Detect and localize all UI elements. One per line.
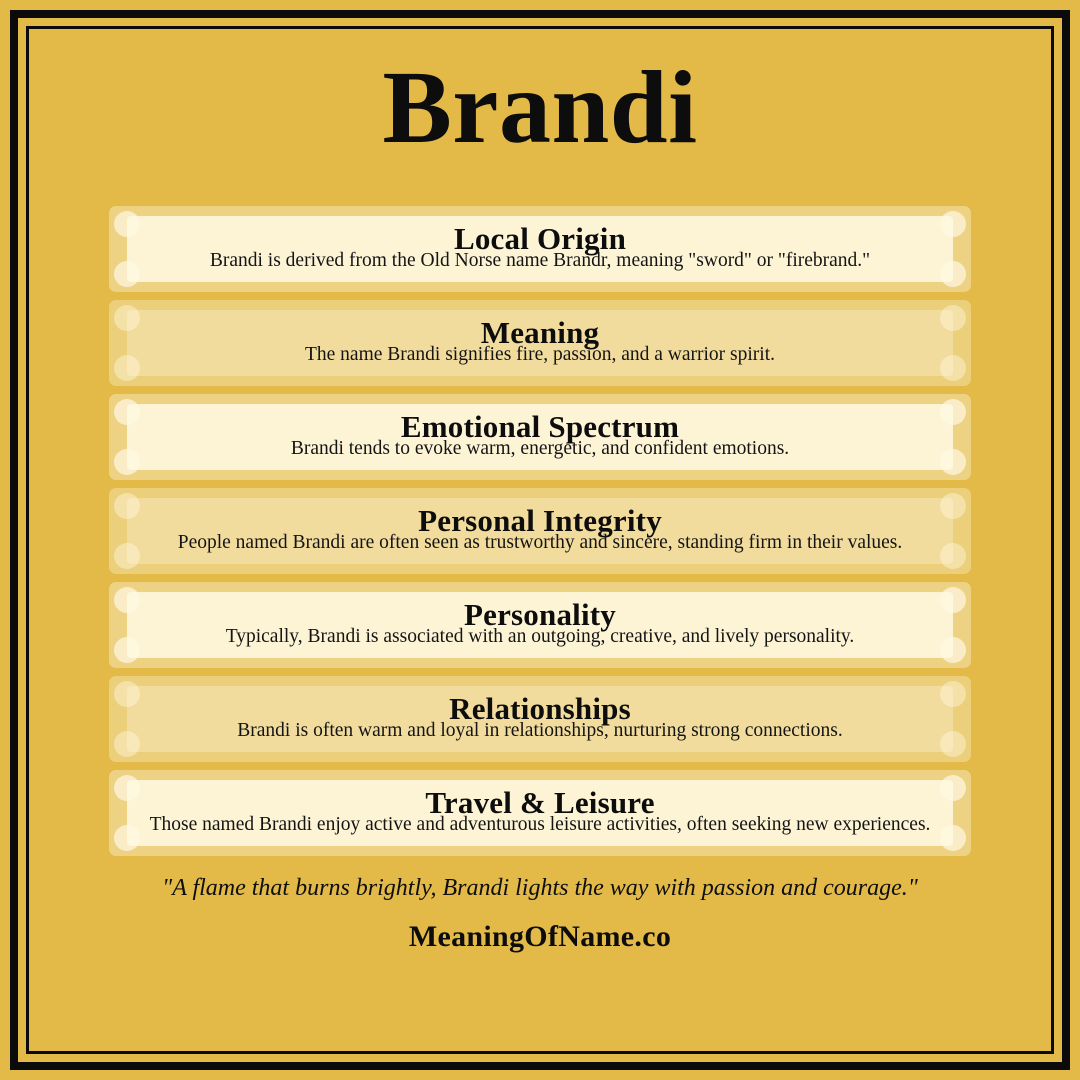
section-card: RelationshipsBrandi is often warm and lo… <box>109 676 971 762</box>
section-card: Travel & LeisureThose named Brandi enjoy… <box>109 770 971 856</box>
section-card: Personal IntegrityPeople named Brandi ar… <box>109 488 971 574</box>
section-card-body-panel: RelationshipsBrandi is often warm and lo… <box>127 686 953 752</box>
section-card-body-panel: Personal IntegrityPeople named Brandi ar… <box>127 498 953 564</box>
site-branding: MeaningOfName.co <box>29 920 1051 954</box>
section-description: Those named Brandi enjoy active and adve… <box>141 814 939 836</box>
section-card: Local OriginBrandi is derived from the O… <box>109 206 971 292</box>
page-title: Brandi <box>29 56 1051 206</box>
tagline-quote: "A flame that burns brightly, Brandi lig… <box>29 874 1051 902</box>
name-meaning-poster: Brandi Local OriginBrandi is derived fro… <box>0 0 1080 1080</box>
section-description: Typically, Brandi is associated with an … <box>141 626 939 648</box>
section-card-body-panel: PersonalityTypically, Brandi is associat… <box>127 592 953 658</box>
section-description: Brandi is derived from the Old Norse nam… <box>141 250 939 272</box>
section-card: MeaningThe name Brandi signifies fire, p… <box>109 300 971 386</box>
sections-list: Local OriginBrandi is derived from the O… <box>109 206 971 856</box>
poster-inner-border: Brandi Local OriginBrandi is derived fro… <box>26 26 1054 1054</box>
section-card-body-panel: Emotional SpectrumBrandi tends to evoke … <box>127 404 953 470</box>
section-card-body-panel: MeaningThe name Brandi signifies fire, p… <box>127 310 953 376</box>
section-card: Emotional SpectrumBrandi tends to evoke … <box>109 394 971 480</box>
section-description: People named Brandi are often seen as tr… <box>141 532 939 554</box>
poster-outer-border: Brandi Local OriginBrandi is derived fro… <box>10 10 1070 1070</box>
section-description: Brandi is often warm and loyal in relati… <box>141 720 939 742</box>
section-description: Brandi tends to evoke warm, energetic, a… <box>141 438 939 460</box>
poster-footer: "A flame that burns brightly, Brandi lig… <box>29 874 1051 954</box>
section-card-body-panel: Local OriginBrandi is derived from the O… <box>127 216 953 282</box>
section-description: The name Brandi signifies fire, passion,… <box>141 344 939 366</box>
section-card-body-panel: Travel & LeisureThose named Brandi enjoy… <box>127 780 953 846</box>
section-card: PersonalityTypically, Brandi is associat… <box>109 582 971 668</box>
